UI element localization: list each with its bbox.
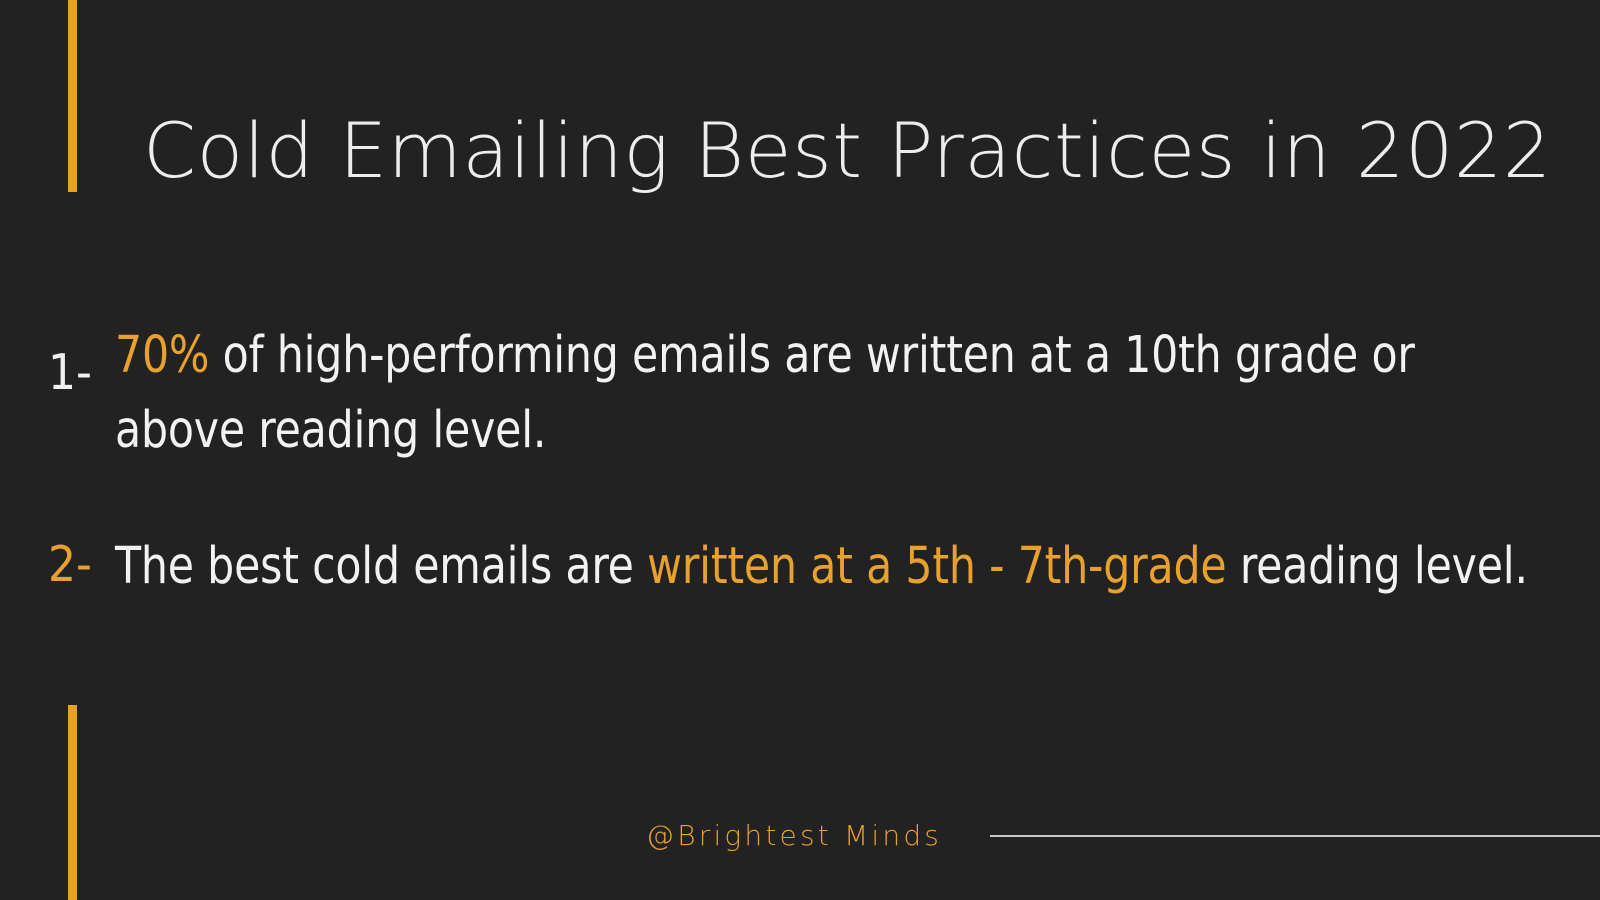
page-title: Cold Emailing Best Practices in 2022 (143, 103, 1563, 199)
list-item: 2- The best cold emails are written at a… (0, 529, 1600, 619)
slide-canvas: Cold Emailing Best Practices in 2022 1- … (0, 0, 1600, 900)
bullet-text-2: The best cold emails are written at a 5t… (115, 529, 1546, 604)
footer: @Brightest Minds (0, 808, 1600, 864)
accent-bar-top (68, 0, 77, 192)
bullet-1-body: of high-performing emails are written at… (115, 326, 1415, 460)
footer-divider (990, 835, 1600, 837)
bullet-2-highlight: written at a 5th - 7th-grade (647, 537, 1226, 596)
bullet-text-1: 70% of high-performing emails are writte… (115, 318, 1496, 468)
list-item: 1- 70% of high-performing emails are wri… (0, 318, 1600, 493)
bullet-marker-2: 2- (48, 529, 115, 589)
bullet-marker-1: 1- (48, 318, 115, 397)
bullet-2-lead: The best cold emails are (115, 537, 647, 596)
bullet-list: 1- 70% of high-performing emails are wri… (0, 318, 1600, 619)
bullet-2-tail: reading level. (1226, 537, 1527, 596)
bullet-1-highlight: 70% (115, 326, 209, 385)
accent-bar-bottom (68, 705, 77, 900)
footer-handle: @Brightest Minds (646, 821, 942, 851)
